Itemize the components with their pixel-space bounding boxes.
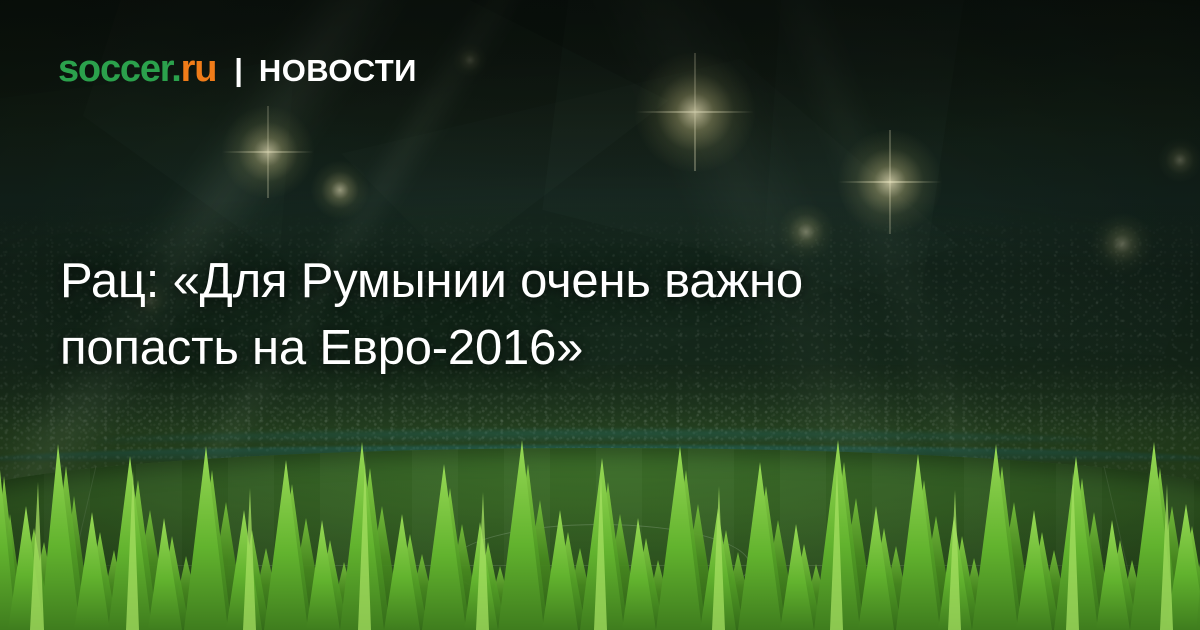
news-share-card: soccer.ru | НОВОСТИ Рац: «Для Румынии оч… xyxy=(0,0,1200,630)
site-logo-bar[interactable]: soccer.ru | НОВОСТИ xyxy=(58,48,417,91)
logo-soccer-text: soccer. xyxy=(58,48,181,91)
grass-foreground xyxy=(0,440,1200,630)
section-label-news: НОВОСТИ xyxy=(259,53,417,89)
logo-ru-text: ru xyxy=(181,48,217,91)
article-headline: Рац: «Для Румынии очень важно попасть на… xyxy=(60,248,1060,382)
logo-separator-icon: | xyxy=(234,52,243,88)
